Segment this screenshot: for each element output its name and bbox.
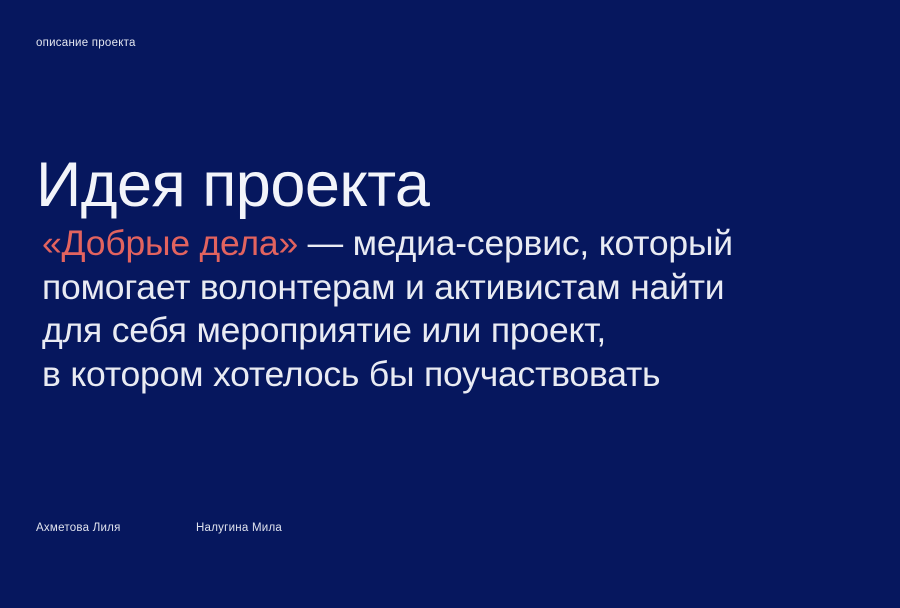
slide-body-text: «Добрые дела» — медиа-сервис, который по… [42, 222, 872, 396]
body-line-1-rest: — медиа-сервис, который [298, 223, 733, 263]
body-line-3: для себя мероприятие или проект, [42, 309, 872, 353]
presentation-slide: описание проекта Идея проекта «Добрые де… [0, 0, 900, 608]
page-title: Идея проекта [36, 148, 429, 222]
body-line-1: «Добрые дела» — медиа-сервис, который [42, 222, 872, 266]
credit-author-1: Ахметова Лиля [36, 521, 196, 535]
slide-eyebrow-label: описание проекта [36, 36, 136, 50]
credit-author-2: Налугина Мила [196, 521, 282, 535]
body-line-4: в котором хотелось бы поучаствовать [42, 353, 872, 397]
body-line-2: помогает волонтерам и активистам найти [42, 266, 872, 310]
slide-credits: Ахметова Лиля Налугина Мила [36, 521, 282, 535]
accent-phrase: «Добрые дела» [42, 223, 298, 263]
